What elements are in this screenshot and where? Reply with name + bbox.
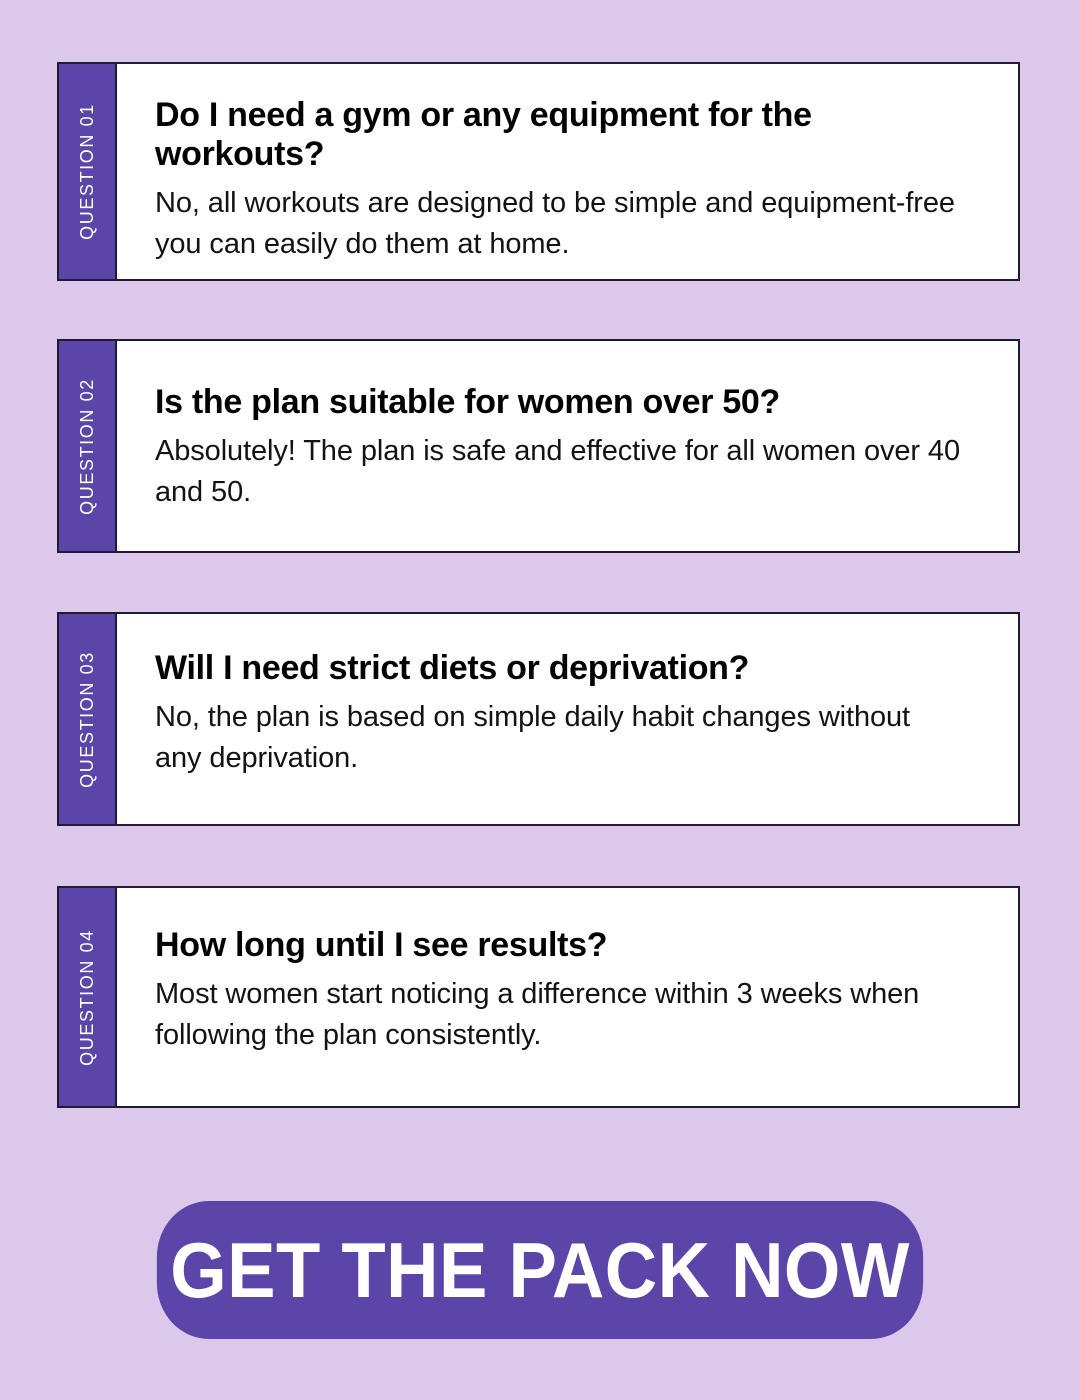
question-tab-3: QUESTION 03 [59,614,117,824]
question-tab-1: QUESTION 01 [59,64,117,279]
faq-question-2: Is the plan suitable for women over 50? [155,383,984,422]
faq-answer-1: No, all workouts are designed to be simp… [155,183,960,265]
cta-button-label: GET THE PACK NOW [170,1231,910,1309]
faq-question-1: Do I need a gym or any equipment for the… [155,96,984,174]
faq-answer-2: Absolutely! The plan is safe and effecti… [155,431,960,513]
question-tab-label-2: QUESTION 02 [77,378,98,515]
faq-content-1: Do I need a gym or any equipment for the… [117,64,1018,279]
faq-card-1[interactable]: QUESTION 01 Do I need a gym or any equip… [57,62,1020,281]
faq-card-4[interactable]: QUESTION 04 How long until I see results… [57,886,1020,1108]
get-the-pack-now-button[interactable]: GET THE PACK NOW [157,1201,923,1339]
faq-page: QUESTION 01 Do I need a gym or any equip… [0,0,1080,1400]
question-tab-2: QUESTION 02 [59,341,117,551]
faq-content-4: How long until I see results? Most women… [117,888,1018,1106]
faq-content-2: Is the plan suitable for women over 50? … [117,341,1018,551]
question-tab-label-1: QUESTION 01 [77,103,98,240]
faq-card-2[interactable]: QUESTION 02 Is the plan suitable for wom… [57,339,1020,553]
faq-content-3: Will I need strict diets or deprivation?… [117,614,1018,824]
faq-answer-4: Most women start noticing a difference w… [155,974,960,1056]
faq-card-3[interactable]: QUESTION 03 Will I need strict diets or … [57,612,1020,826]
faq-question-3: Will I need strict diets or deprivation? [155,649,984,688]
faq-answer-3: No, the plan is based on simple daily ha… [155,697,960,779]
question-tab-label-3: QUESTION 03 [77,651,98,788]
faq-question-4: How long until I see results? [155,926,984,965]
question-tab-label-4: QUESTION 04 [77,929,98,1066]
question-tab-4: QUESTION 04 [59,888,117,1106]
